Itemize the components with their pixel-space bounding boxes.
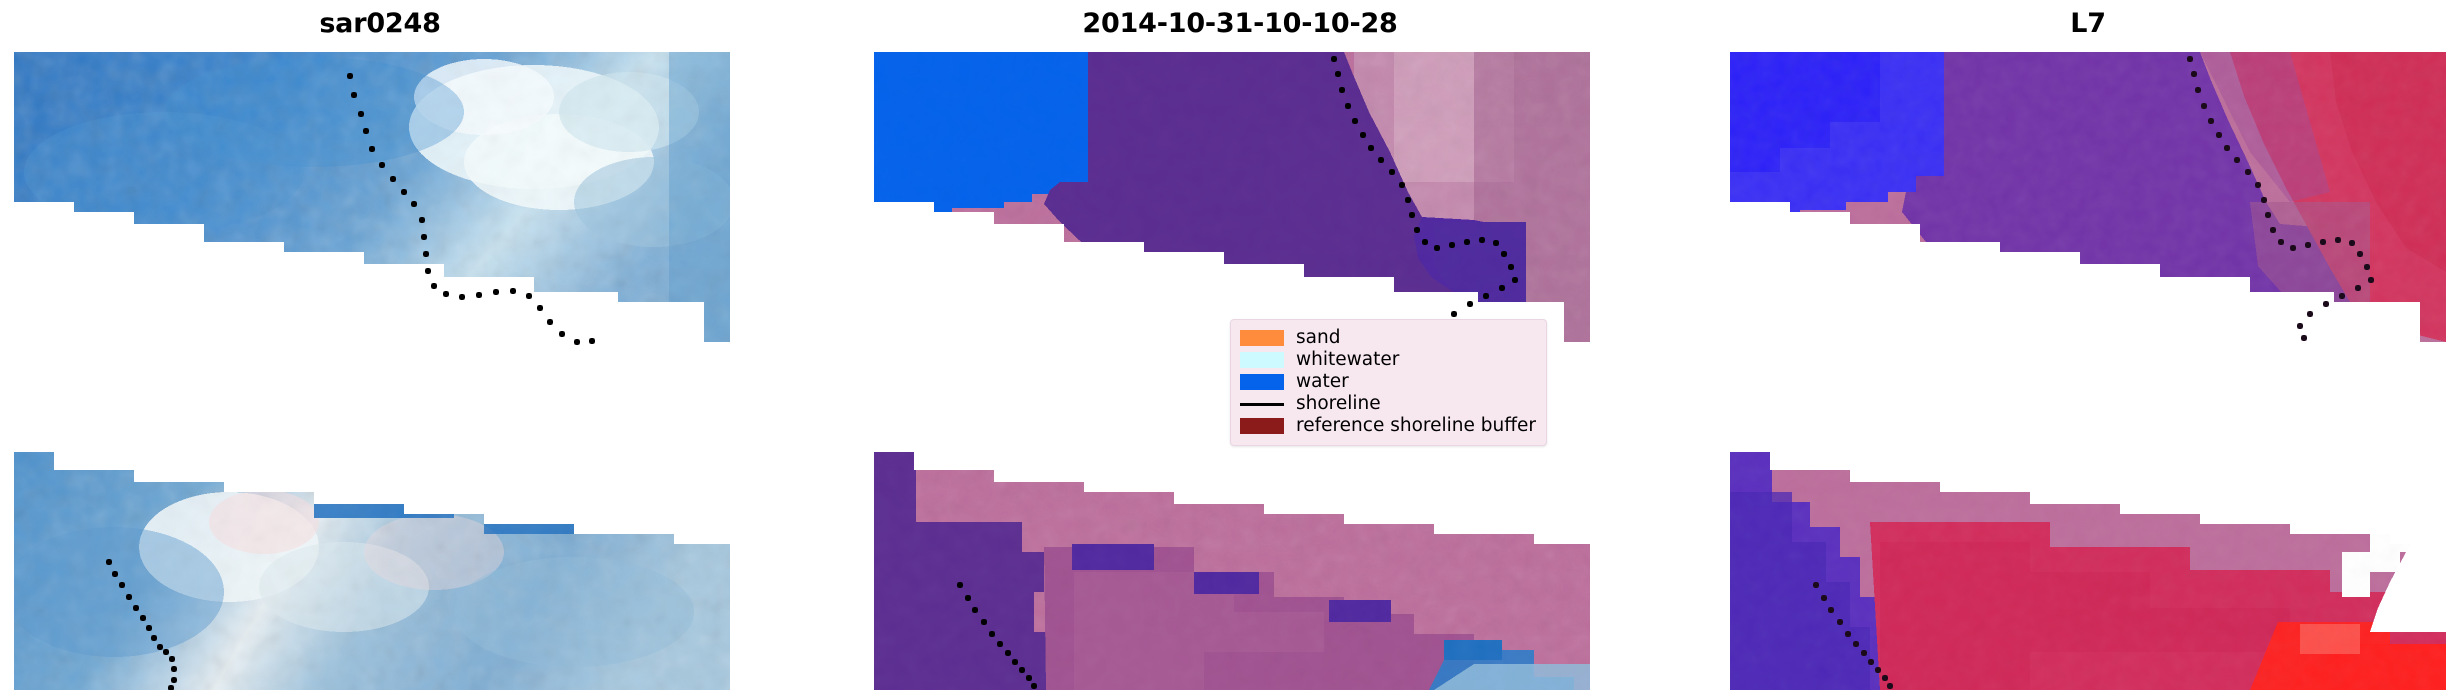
legend: sand whitewater water shoreline (1230, 319, 1547, 446)
sand-swatch-icon (1240, 330, 1284, 346)
legend-item-shoreline: shoreline (1240, 393, 1536, 415)
shoreline-line-icon (1240, 396, 1284, 412)
legend-item-sand: sand (1240, 327, 1536, 349)
legend-label-water: water (1296, 371, 1349, 393)
panel-l7: L7 (1716, 0, 2460, 690)
panel-1-title: sar0248 (0, 2, 760, 46)
panel-3-title: L7 (1716, 2, 2460, 46)
panel-2-title: 2014-10-31-10-10-28 (860, 2, 1620, 46)
legend-label-shoreline: shoreline (1296, 393, 1381, 415)
panel-sar0248: sar0248 (0, 0, 760, 690)
panel-classification: 2014-10-31-10-10-28 (860, 0, 1620, 690)
legend-item-whitewater: whitewater (1240, 349, 1536, 371)
panel-1-raster (14, 52, 730, 690)
panel-3-raster (1730, 52, 2446, 690)
water-swatch-icon (1240, 374, 1284, 390)
legend-label-sand: sand (1296, 327, 1340, 349)
reference-buffer-swatch-icon (1240, 418, 1284, 434)
legend-item-water: water (1240, 371, 1536, 393)
legend-label-whitewater: whitewater (1296, 349, 1399, 371)
legend-item-reference-shoreline-buffer: reference shoreline buffer (1240, 415, 1536, 437)
whitewater-swatch-icon (1240, 352, 1284, 368)
figure-root: sar0248 (0, 0, 2460, 690)
legend-label-reference-shoreline-buffer: reference shoreline buffer (1296, 415, 1536, 437)
